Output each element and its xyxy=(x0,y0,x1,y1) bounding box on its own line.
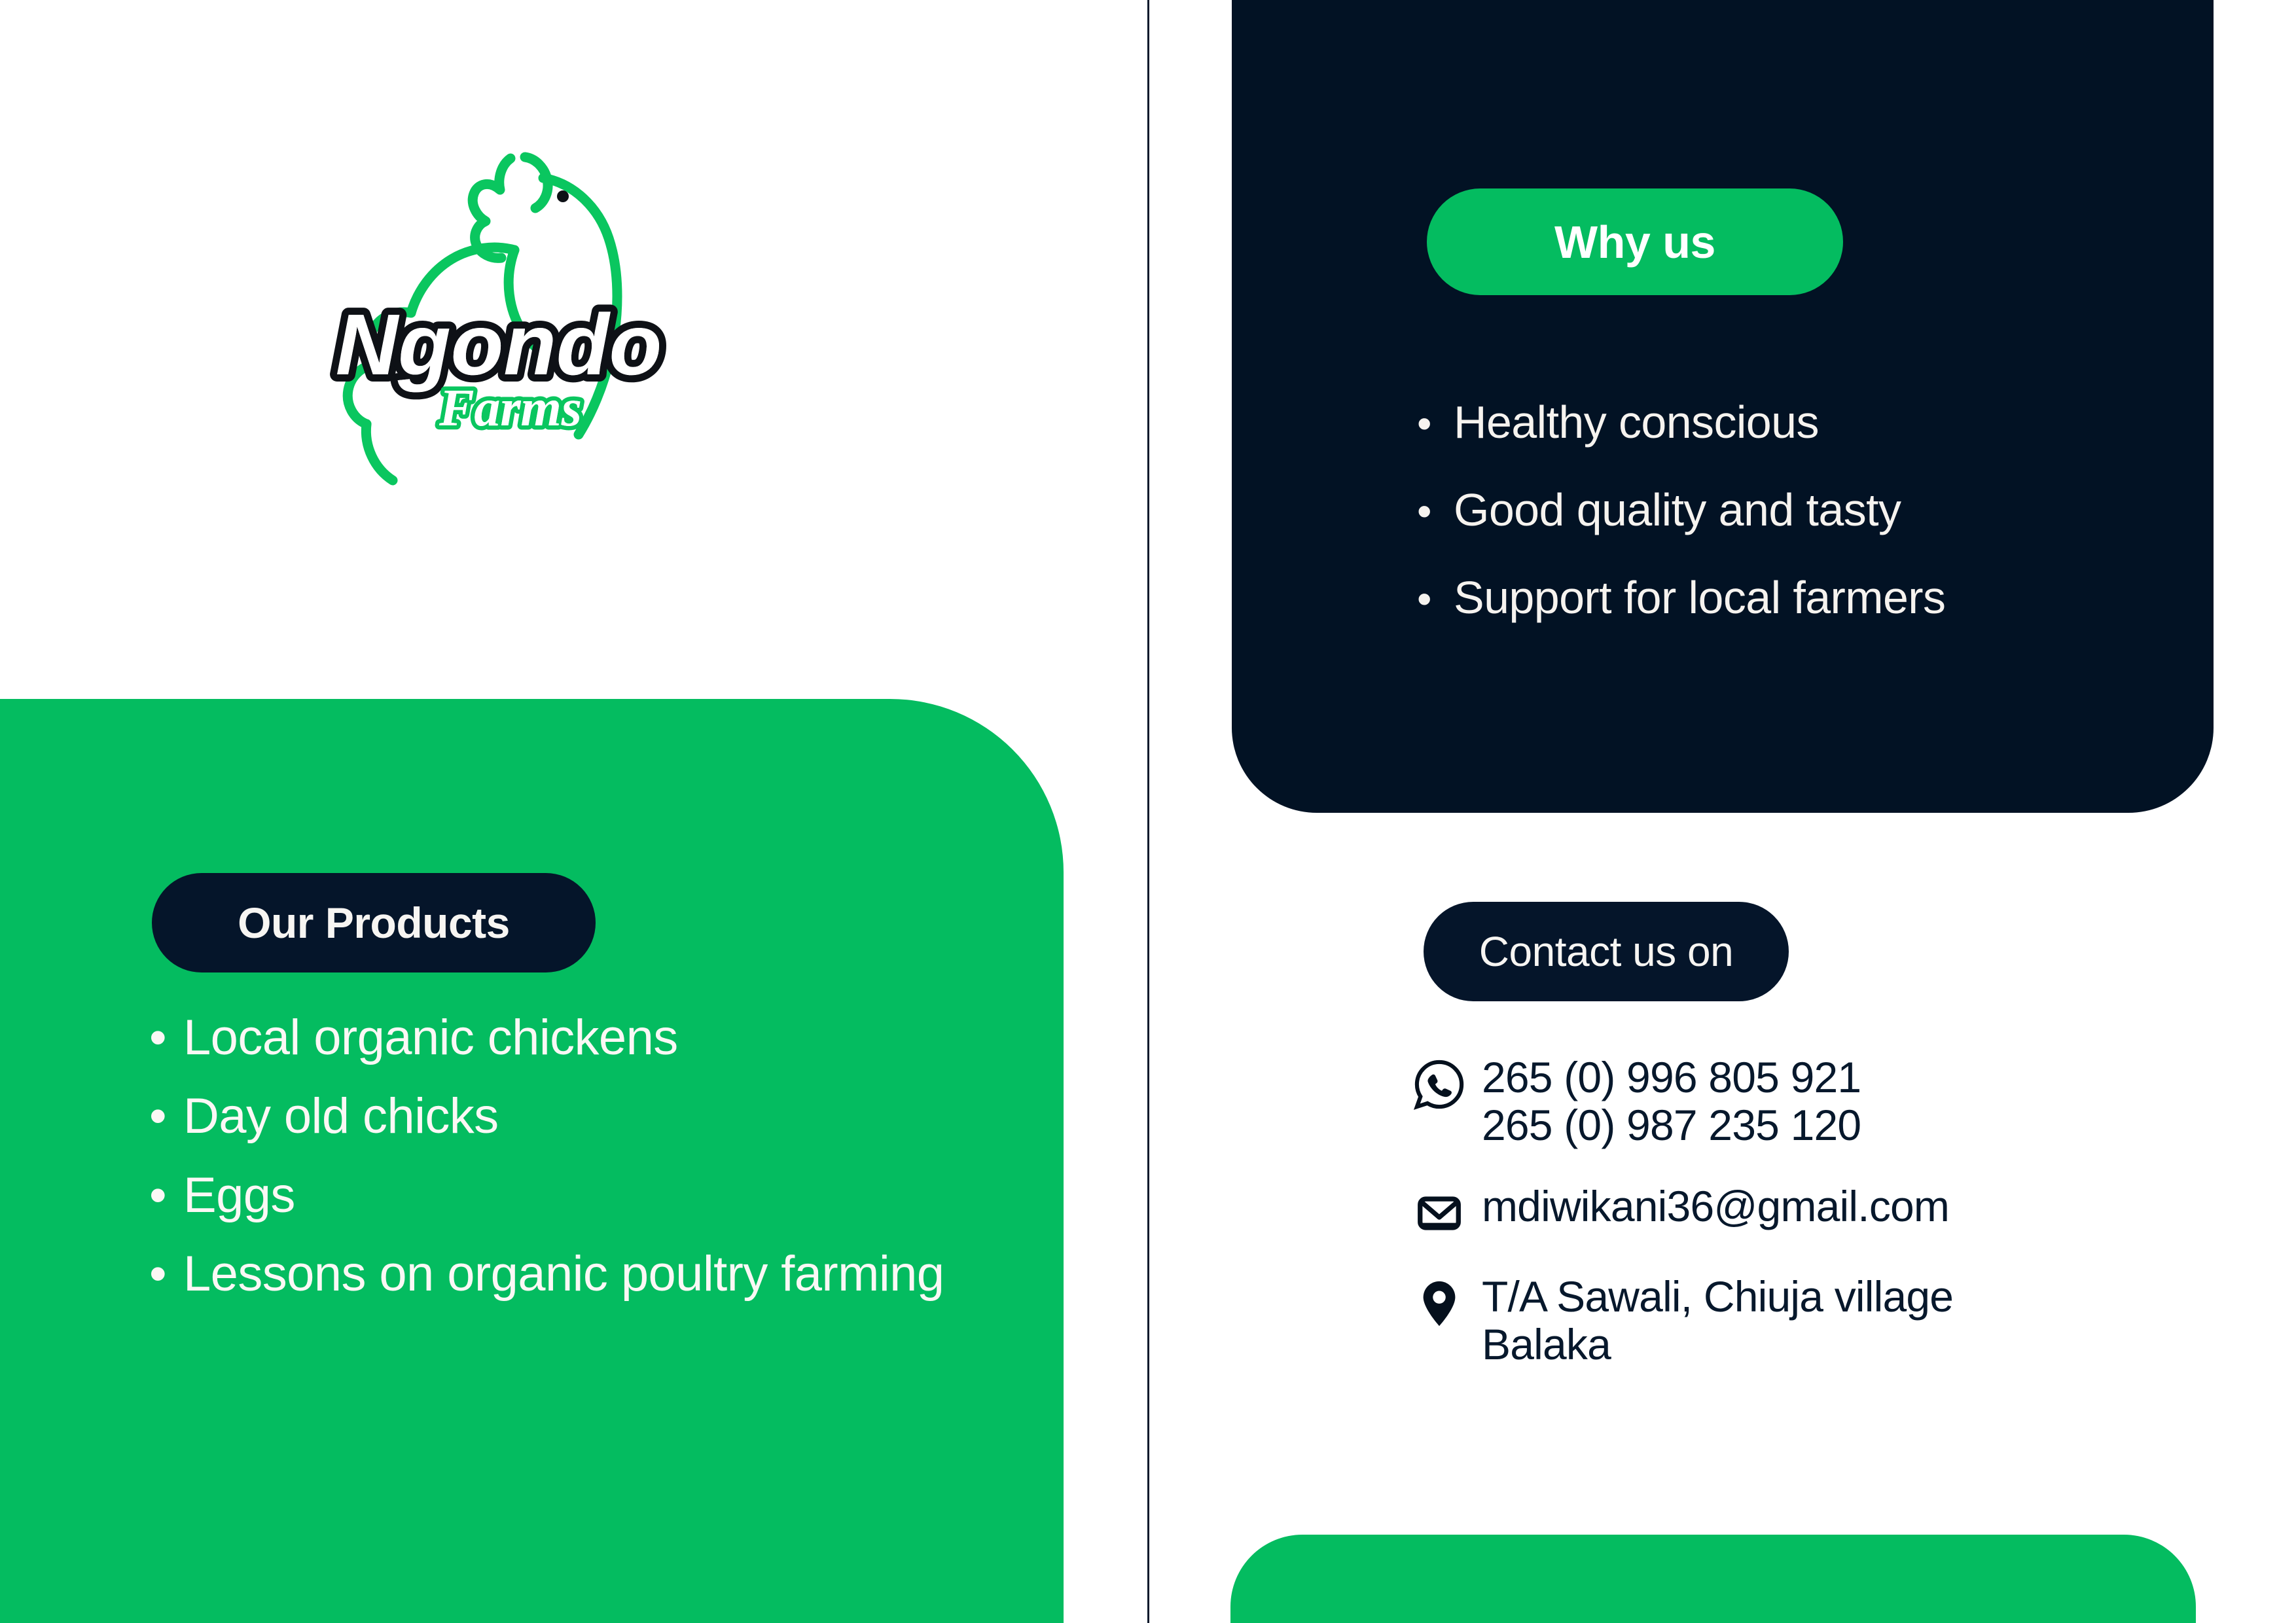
bottom-accent-shape xyxy=(1230,1535,2196,1623)
phone-numbers: 265 (0) 996 805 921 265 (0) 987 235 120 xyxy=(1482,1054,1861,1149)
list-item-label: Local organic chickens xyxy=(183,1010,678,1065)
why-us-list: •Healthy conscious •Good quality and tas… xyxy=(1417,399,2189,662)
address-text: T/A Sawali, Chiuja village Balaka xyxy=(1482,1273,1953,1368)
contact-list: 265 (0) 996 805 921 265 (0) 987 235 120 … xyxy=(1414,1054,2232,1402)
contact-row-phone[interactable]: 265 (0) 996 805 921 265 (0) 987 235 120 xyxy=(1414,1054,2232,1149)
why-us-heading: Why us xyxy=(1427,188,1843,295)
bullet-icon: • xyxy=(149,1080,183,1153)
list-item-label: Day old chicks xyxy=(183,1088,499,1144)
list-item-label: Good quality and tasty xyxy=(1454,487,1901,533)
whatsapp-icon xyxy=(1414,1054,1482,1110)
envelope-icon xyxy=(1414,1183,1482,1239)
column-divider xyxy=(1147,0,1149,1623)
list-item-label: Eggs xyxy=(183,1168,295,1223)
list-item: •Day old chicks xyxy=(149,1080,1020,1153)
flyer-canvas: Ngondo Ngondo Farms Farms Our Products •… xyxy=(0,0,2296,1623)
list-item-label: Support for local farmers xyxy=(1454,575,1945,620)
products-list: •Local organic chickens •Day old chicks … xyxy=(149,1001,1020,1317)
list-item: •Healthy conscious xyxy=(1417,399,2189,445)
contact-row-email[interactable]: mdiwikani36@gmail.com xyxy=(1414,1183,2232,1239)
list-item: •Eggs xyxy=(149,1159,1020,1232)
bullet-icon: • xyxy=(1417,402,1454,444)
list-item: •Lessons on organic poultry farming xyxy=(149,1238,1020,1311)
bullet-icon: • xyxy=(1417,578,1454,620)
list-item: •Support for local farmers xyxy=(1417,575,2189,620)
list-item: •Local organic chickens xyxy=(149,1001,1020,1075)
bullet-icon: • xyxy=(149,1238,183,1311)
list-item-label: Lessons on organic poultry farming xyxy=(183,1246,944,1302)
list-item: •Good quality and tasty xyxy=(1417,487,2189,533)
bullet-icon: • xyxy=(149,1159,183,1232)
email-address: mdiwikani36@gmail.com xyxy=(1482,1183,1949,1230)
list-item-label: Healthy conscious xyxy=(1454,399,1819,445)
our-products-heading: Our Products xyxy=(152,873,596,972)
map-pin-icon xyxy=(1414,1273,1482,1329)
bullet-icon: • xyxy=(149,1001,183,1075)
svg-text:Farms: Farms xyxy=(439,380,582,437)
contact-row-address[interactable]: T/A Sawali, Chiuja village Balaka xyxy=(1414,1273,2232,1368)
svg-text:Ngondo: Ngondo xyxy=(336,296,662,393)
contact-us-heading: Contact us on xyxy=(1424,902,1789,1001)
bullet-icon: • xyxy=(1417,490,1454,532)
brand-logo: Ngondo Ngondo Farms Farms xyxy=(314,118,681,497)
